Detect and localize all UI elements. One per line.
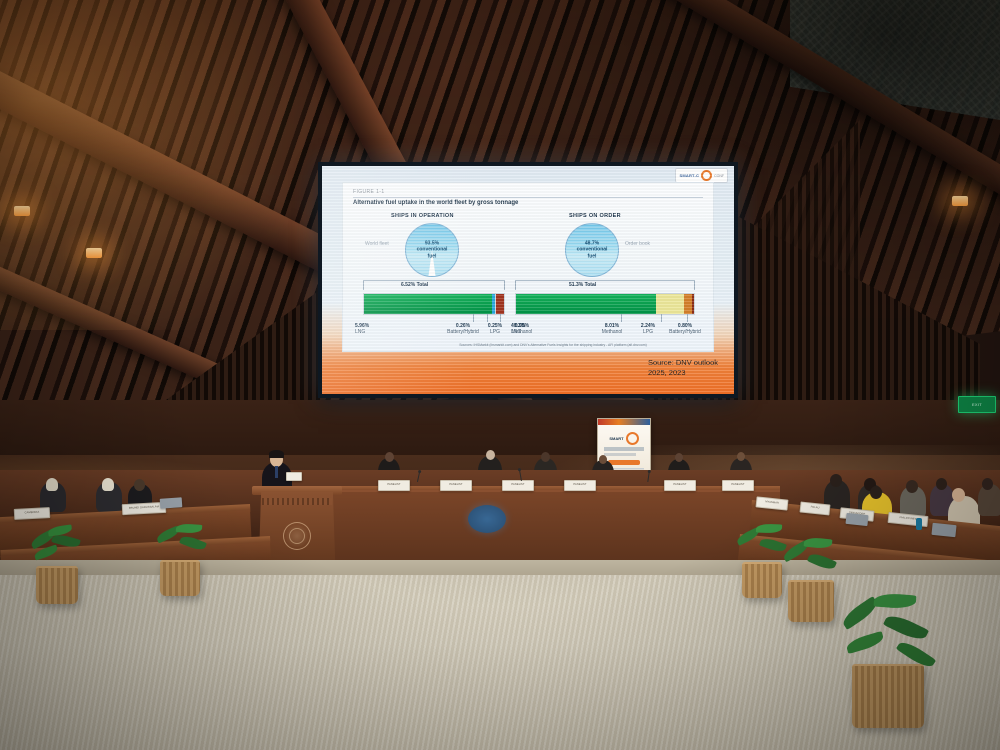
world-fleet-text: World fleet [365, 241, 389, 247]
panelist-head [486, 450, 495, 460]
wall-sconce [14, 206, 30, 216]
wall-sconce [86, 248, 102, 258]
smart-c-logo: SMART-C CONF [675, 168, 728, 183]
speaker-hair [269, 450, 284, 458]
delegate-head [936, 478, 947, 490]
laptop [160, 497, 183, 509]
nameplate-panel: PANELIST [722, 480, 754, 491]
pie-chart-ships-on-order: 48.7% conventional fuel [565, 223, 619, 277]
bar-segment-methanol [656, 294, 684, 314]
pie-caption-2: fuel [588, 253, 597, 259]
nameplate-label: PANELIST [665, 483, 695, 486]
pie-chart-ships-in-operation: 93.5% conventional fuel [405, 223, 459, 277]
exit-sign-label: EXIT [972, 402, 982, 407]
left-panel-heading: SHIPS IN OPERATION [391, 213, 454, 219]
logo-text: SMART-C [679, 173, 699, 178]
bar-segment-lng [364, 294, 492, 314]
panelist-head [675, 453, 683, 462]
value-lng-left: 5.96% LNG [355, 323, 385, 336]
nameplate-label: PALAU [801, 505, 829, 511]
nameplate-label: CAMBODIA [15, 510, 49, 515]
pie-caption-1: conventional [577, 247, 608, 253]
plant-pot [852, 664, 924, 728]
figure-sources-note: Sources: IHSMarkit (ihsmarkit.com) and D… [403, 343, 703, 347]
plant-pot [742, 562, 782, 598]
carpet-floor [0, 575, 1000, 750]
left-stacked-bar [363, 293, 505, 315]
nameplate-panel: PANELIST [502, 480, 534, 491]
delegate-head [870, 486, 882, 499]
value-label: LNG [511, 329, 541, 335]
poster-header-bar [598, 419, 650, 425]
leader-line [487, 314, 488, 322]
nameplate-label: PANELIST [723, 483, 753, 486]
nameplate-label: PANELIST [565, 483, 595, 486]
pie-caption-2: fuel [428, 253, 437, 259]
left-total-label: 6.52% Total [401, 282, 428, 288]
value-lpg-left: 0.25% LPG [483, 323, 507, 336]
panelist-head [737, 452, 745, 461]
leader-line [621, 314, 622, 322]
figure-title: Alternative fuel uptake in the world fle… [353, 200, 518, 206]
delegate-head [906, 480, 918, 493]
value-pct: 5.96% [355, 323, 369, 329]
pie-value: 48.7% [585, 240, 599, 246]
leader-line [473, 314, 474, 322]
delegate-hijab [102, 478, 114, 491]
poster-cta-band [608, 460, 640, 465]
value-battery-left: 0.26% Battery/Hybrid [441, 323, 485, 336]
plant-pot [788, 580, 834, 622]
nameplate-label: MYANMAR [757, 499, 787, 505]
figure-divider [353, 197, 703, 198]
pie-label-group: 48.7% conventional fuel [566, 240, 618, 259]
value-methanol-right: 8.01% Methanol [595, 323, 629, 336]
bar-segment-battery-hybrid [692, 294, 694, 314]
plant-pot [36, 566, 78, 604]
nameplate-label: BRUNEI DARUSSALAM [123, 505, 165, 510]
nameplate-left-wing: CAMBODIA [14, 507, 51, 520]
panelist-head [385, 452, 394, 462]
un-logo-emblem [468, 505, 506, 533]
poster-logo: SMART [604, 433, 644, 444]
exit-sign: EXIT [958, 396, 996, 413]
delegate-head [134, 479, 145, 491]
delegate-head [830, 474, 842, 487]
world-fleet-label: World fleet [365, 241, 389, 247]
right-bracket [515, 280, 695, 290]
dnv-source-line-2: 2025, 2023 [648, 368, 718, 378]
delegate-head [982, 478, 993, 490]
water-bottle [916, 518, 922, 530]
panelist-head [599, 455, 607, 464]
laptop [845, 513, 868, 526]
nameplate-panel: PANELIST [564, 480, 596, 491]
wall-sconce [952, 196, 968, 206]
right-panel-heading: SHIPS ON ORDER [569, 213, 621, 219]
left-bracket [363, 280, 505, 290]
delegate-hijab [46, 478, 58, 491]
un-emblem-icon [283, 522, 311, 550]
bar-segment-methanol-cap [495, 293, 505, 315]
bar-segment-lpg [684, 294, 692, 314]
nameplate-label: PANELIST [441, 483, 471, 486]
leader-line [500, 314, 501, 322]
nameplate-panel: PANELIST [440, 480, 472, 491]
delegate-head [952, 488, 965, 502]
value-pct: 2.24% [641, 323, 655, 329]
speaker-badge [286, 472, 302, 481]
pie-label-group: 93.5% conventional fuel [406, 240, 458, 259]
logo-circle-icon [701, 170, 712, 181]
speaker-necktie [275, 466, 278, 478]
dnv-source-line-1: Source: DNV outlook [648, 358, 718, 368]
value-pct: 0.26% [456, 323, 470, 329]
value-label: Battery/Hybrid [661, 329, 709, 335]
bar-segment-lng [516, 294, 656, 314]
value-pct: 8.01% [605, 323, 619, 329]
poster-text-block [604, 447, 644, 451]
order-book-text: Order book [625, 241, 650, 247]
value-pct: 40.3% [511, 323, 525, 329]
right-total-label: 51.3% Total [569, 282, 596, 288]
leader-line [687, 314, 688, 322]
nameplate-label: PANELIST [379, 483, 409, 486]
right-stacked-bar [515, 293, 695, 315]
value-pct: 0.80% [678, 323, 692, 329]
figure-number: FIGURE 1-1 [353, 189, 385, 195]
projection-screen-frame: SMART-C CONF FIGURE 1-1 Alternative fuel… [318, 162, 738, 398]
pie-caption-1: conventional [417, 247, 448, 253]
value-label: LNG [355, 329, 385, 335]
value-label: LPG [483, 329, 507, 335]
nameplate-panel: PANELIST [664, 480, 696, 491]
value-label: Battery/Hybrid [441, 329, 485, 335]
order-book-label: Order book [625, 241, 650, 247]
conference-hall-photo: EXIT SMART-C CONF FIGURE 1-1 Alternative… [0, 0, 1000, 750]
figure-card: FIGURE 1-1 Alternative fuel uptake in th… [342, 182, 714, 352]
value-lpg-right: 2.24% LPG [635, 323, 661, 336]
nameplate-panel: PANELIST [378, 480, 410, 491]
dais-front-panel [300, 490, 780, 562]
logo-suffix: CONF [714, 174, 724, 178]
poster-logo-circle-icon [626, 432, 639, 445]
pie-value: 93.5% [425, 240, 439, 246]
panelist-head [541, 452, 550, 462]
carpet-texture [0, 575, 1000, 750]
poster-text-block [604, 453, 636, 456]
value-label: LPG [635, 329, 661, 335]
value-battery-right: 0.80% Battery/Hybrid [661, 323, 709, 336]
dnv-source-credit: Source: DNV outlook 2025, 2023 [648, 358, 718, 378]
value-lng-right: 40.3% LNG [511, 323, 541, 336]
value-pct: 0.25% [488, 323, 502, 329]
value-label: Methanol [595, 329, 629, 335]
laptop [931, 523, 956, 537]
projection-screen: SMART-C CONF FIGURE 1-1 Alternative fuel… [322, 166, 734, 394]
room-background: EXIT SMART-C CONF FIGURE 1-1 Alternative… [0, 0, 1000, 750]
leader-line [661, 314, 662, 322]
poster-logo-text: SMART [609, 436, 623, 441]
plant-pot [160, 560, 200, 596]
nameplate-label: PANELIST [503, 483, 533, 486]
podium-trim [262, 498, 332, 505]
